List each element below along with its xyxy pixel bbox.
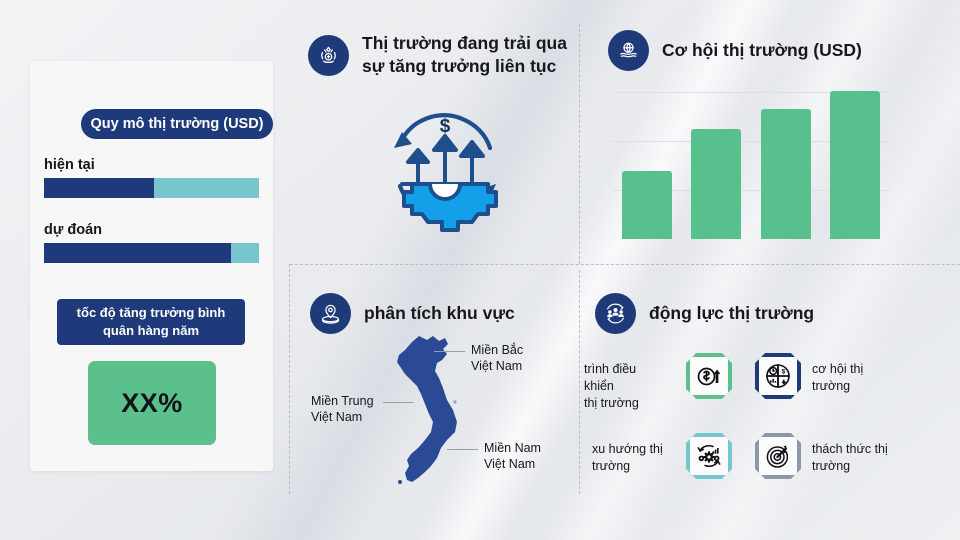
- chart-bar: [691, 129, 741, 239]
- bar-fill-current: [44, 178, 154, 198]
- driver-label-market-trends: xu hướng thị trường: [592, 441, 672, 475]
- driver-label-market-challenges: thách thức thị trường: [812, 441, 902, 475]
- driver-1-line1: cơ hội thị: [812, 361, 898, 378]
- region-label-north: Miền Bắc Việt Nam: [471, 342, 523, 374]
- bar-label-forecast: dự đoán: [44, 222, 102, 238]
- gears-trend-icon: [690, 437, 728, 475]
- driver-tile-market-drivers[interactable]: [686, 353, 732, 399]
- bar-fill-forecast: [44, 243, 231, 263]
- driver-1-line2: trường: [812, 378, 898, 395]
- driver-0-line1: trình điều khiển: [584, 361, 668, 395]
- growth-title-line-2: sự tăng trưởng liên tục: [362, 55, 567, 78]
- leader-line-north: [434, 351, 465, 352]
- driver-2-line2: trường: [592, 458, 672, 475]
- bar-track-current: [44, 178, 259, 198]
- driver-label-market-opportunities: cơ hội thị trường: [812, 361, 898, 395]
- drivers-section-title: động lực thị trường: [649, 302, 814, 325]
- opportunity-bar-chart: [612, 76, 890, 239]
- divider-vertical-bottom-left: [289, 264, 290, 494]
- driver-0-line2: thị trường: [584, 395, 668, 412]
- chart-bar: [622, 171, 672, 239]
- location-pin-icon: [310, 293, 351, 334]
- market-size-card: Quy mô thị trường (USD) hiện tại dự đoán…: [30, 61, 273, 471]
- driver-tile-market-challenges[interactable]: [755, 433, 801, 479]
- growth-section-title: Thị trường đang trải qua sự tăng trưởng …: [362, 32, 567, 78]
- driver-3-line2: trường: [812, 458, 902, 475]
- region-south-line1: Miền Nam: [484, 440, 541, 456]
- cagr-label-box: tốc độ tăng trưởng bình quân hàng năm: [57, 299, 245, 345]
- growth-section-header: Thị trường đang trải qua sự tăng trưởng …: [308, 32, 567, 78]
- pie-chart-icon: $: [759, 357, 797, 395]
- gear-upward-arrows-dollar-icon: $: [372, 104, 518, 232]
- cagr-value-box: XX%: [88, 361, 216, 445]
- opportunity-section-title: Cơ hội thị trường (USD): [662, 39, 862, 62]
- bar-label-current: hiện tại: [44, 157, 95, 173]
- growth-hands-icon: [308, 35, 349, 76]
- people-group-icon: [595, 293, 636, 334]
- market-size-title-pill: Quy mô thị trường (USD): [81, 109, 273, 139]
- region-north-line2: Việt Nam: [471, 358, 523, 374]
- dollar-arrow-up-icon: [690, 357, 728, 395]
- region-central-line1: Miền Trung: [311, 393, 374, 409]
- opportunity-section-header: Cơ hội thị trường (USD): [608, 30, 862, 71]
- drivers-section-header: động lực thị trường: [595, 293, 814, 334]
- infographic-canvas: Quy mô thị trường (USD) hiện tại dự đoán…: [0, 0, 960, 540]
- globe-in-hands-icon: [608, 30, 649, 71]
- region-central-line2: Việt Nam: [311, 409, 374, 425]
- driver-tile-market-trends[interactable]: [686, 433, 732, 479]
- region-south-line2: Việt Nam: [484, 456, 541, 472]
- target-dart-icon: [759, 437, 797, 475]
- driver-tile-market-opportunities[interactable]: $: [755, 353, 801, 399]
- driver-3-line1: thách thức thị: [812, 441, 902, 458]
- growth-title-line-1: Thị trường đang trải qua: [362, 32, 567, 55]
- region-label-central: Miền Trung Việt Nam: [311, 393, 374, 425]
- chart-bar: [830, 91, 880, 239]
- region-north-line1: Miền Bắc: [471, 342, 523, 358]
- bar-track-forecast: [44, 243, 259, 263]
- svg-text:$: $: [440, 116, 451, 137]
- regional-section-header: phân tích khu vực: [310, 293, 515, 334]
- divider-vertical-top: [579, 24, 580, 264]
- leader-line-central: [383, 402, 414, 403]
- svg-text:$: $: [782, 368, 786, 375]
- divider-horizontal: [290, 264, 960, 265]
- driver-label-market-drivers: trình điều khiển thị trường: [584, 361, 668, 412]
- chart-bar: [761, 109, 811, 239]
- regional-section-title: phân tích khu vực: [364, 302, 515, 325]
- divider-vertical-bottom-right: [579, 270, 580, 494]
- driver-2-line1: xu hướng thị: [592, 441, 672, 458]
- region-label-south: Miền Nam Việt Nam: [484, 440, 541, 472]
- leader-line-south: [447, 449, 478, 450]
